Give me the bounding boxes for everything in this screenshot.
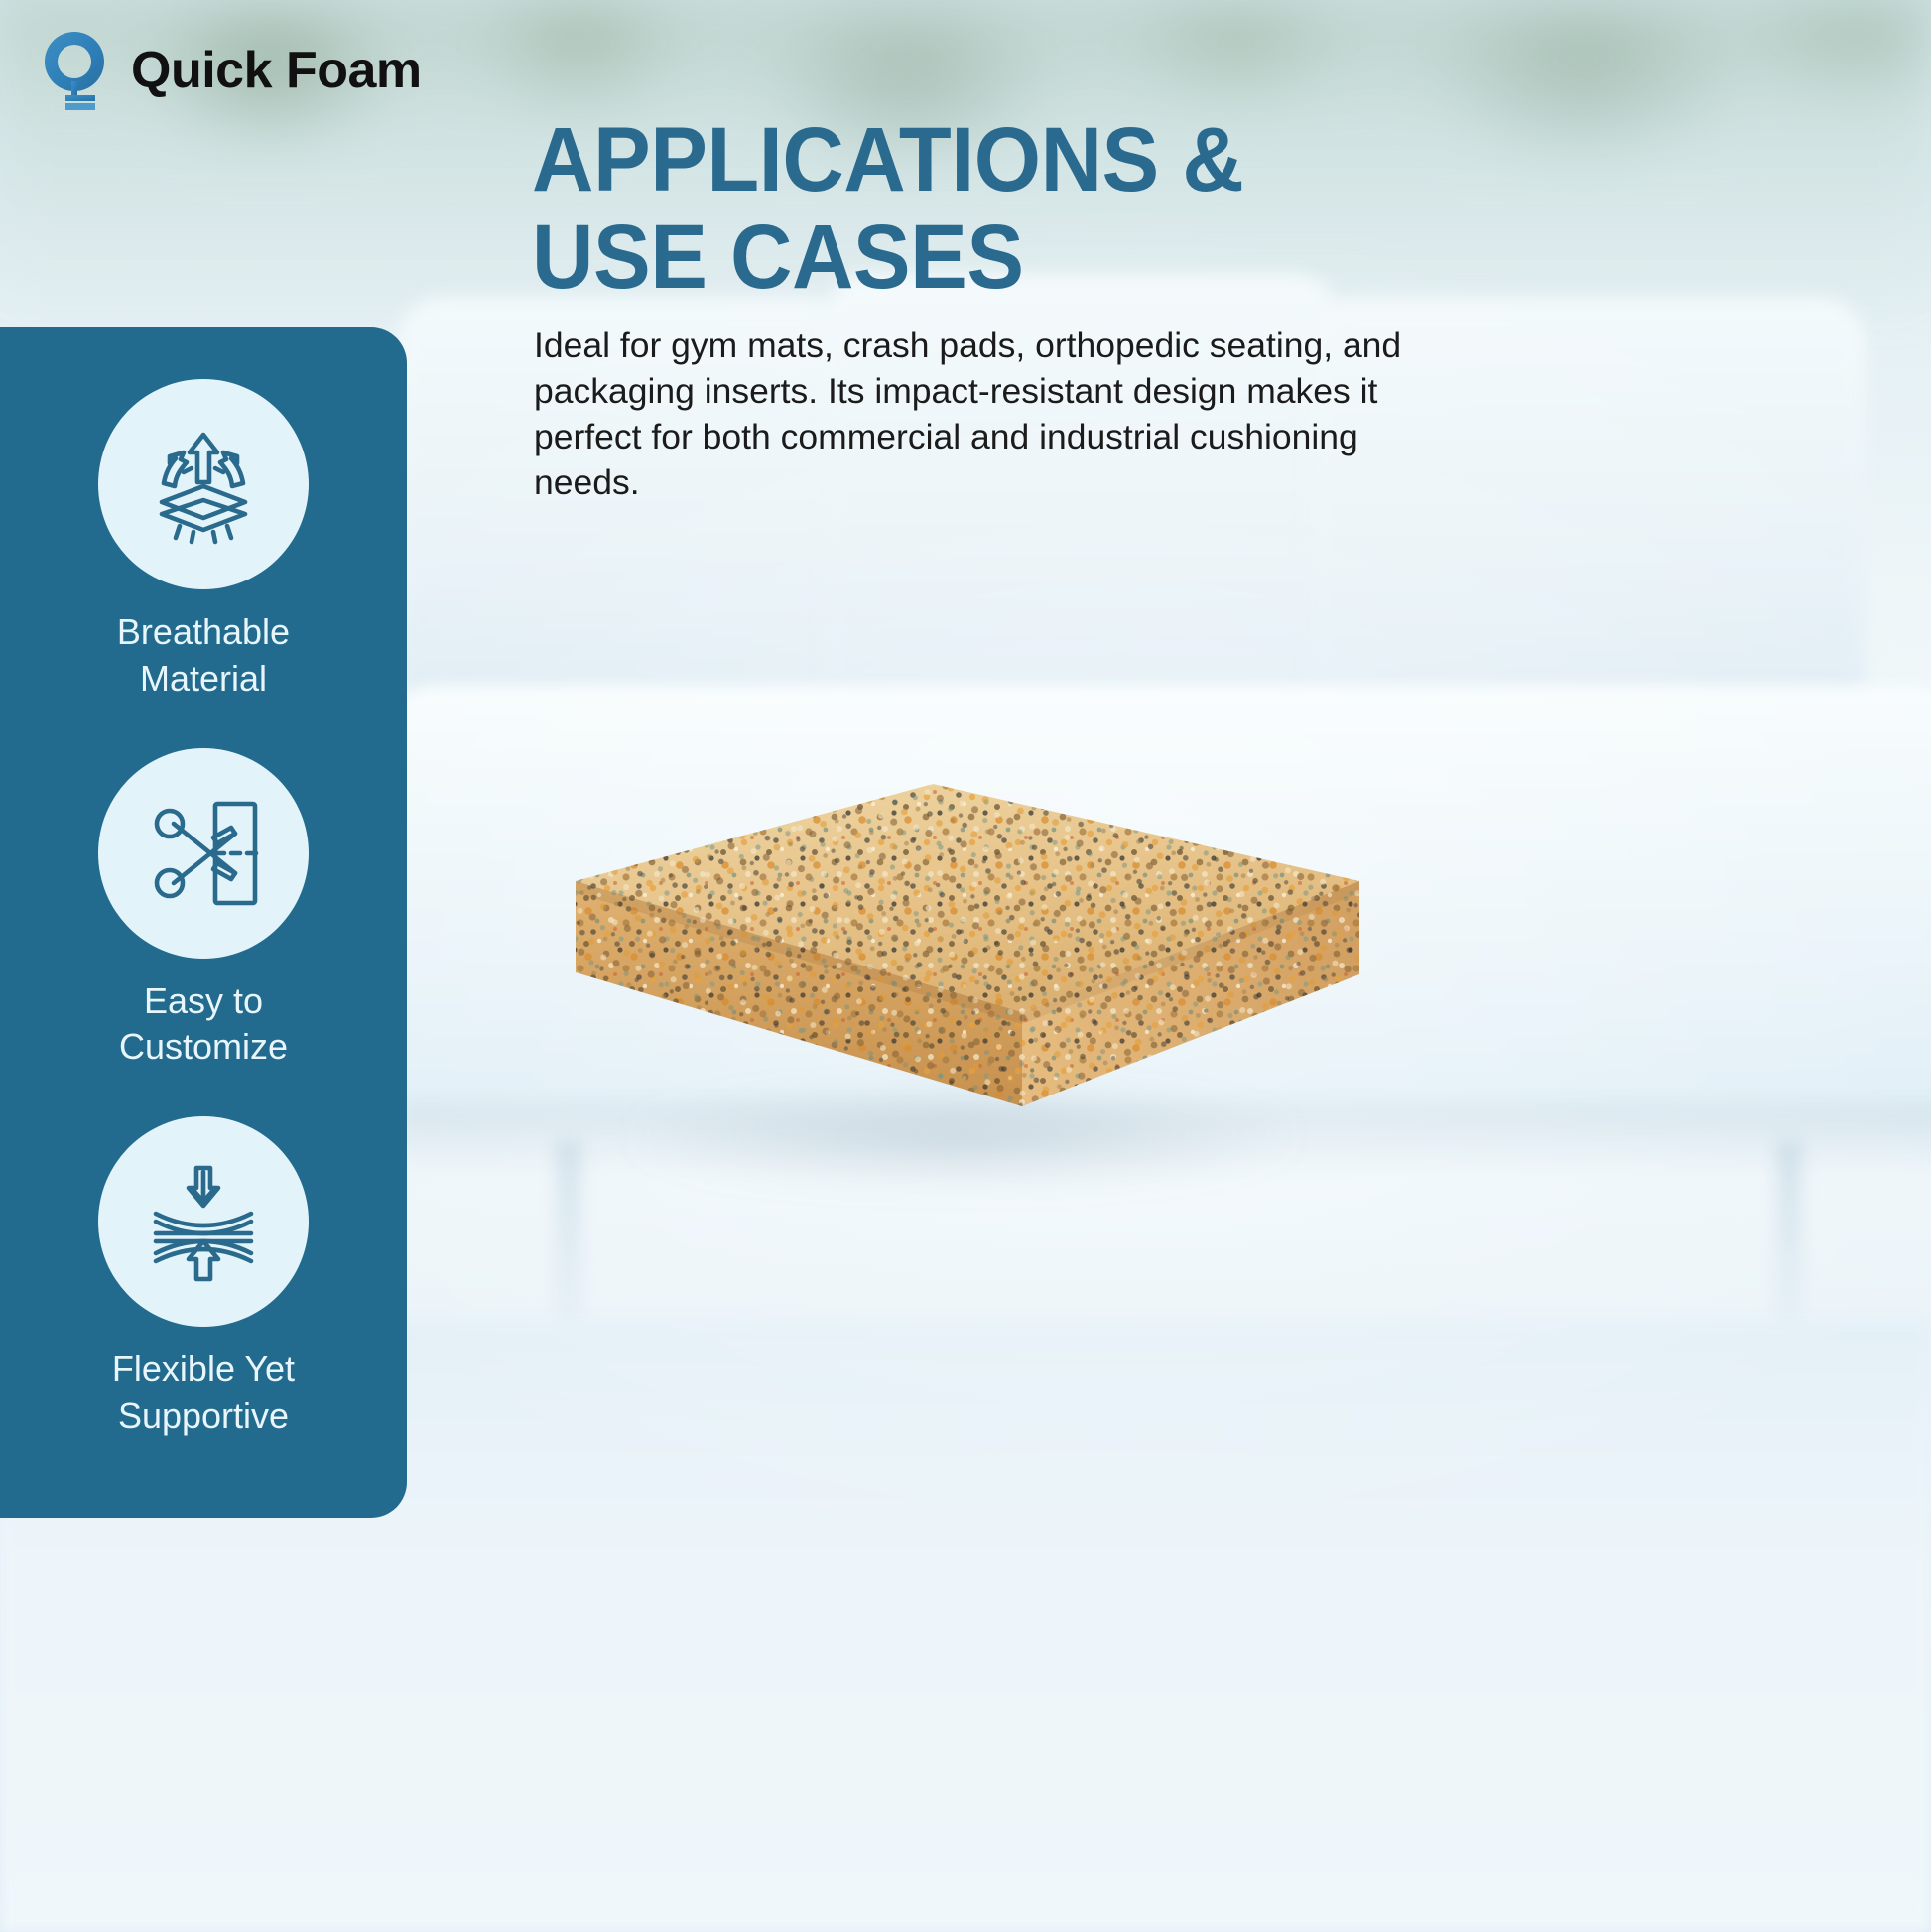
page-title: APPLICATIONS & USE CASES [532,111,1465,307]
brand-logo[interactable]: Quick Foam [42,30,422,111]
breathable-airflow-icon [98,379,309,589]
page-title-line-2: USE CASES [532,208,1465,306]
foam-block-illustration [556,764,1379,1161]
compression-rebound-icon [98,1116,309,1327]
feature-item-easy-to-customize[interactable]: Easy to Customize [0,748,407,1072]
scissors-cut-icon [98,748,309,959]
quick-foam-q-mark [42,30,113,111]
feature-label: Flexible Yet Supportive [112,1347,295,1440]
product-foam-block [556,764,1379,1161]
feature-label: Breathable Material [117,609,290,703]
page-title-line-1: APPLICATIONS & [532,111,1465,208]
features-sidebar: Breathable Material Easy to Customize [0,327,407,1518]
feature-item-breathable-material[interactable]: Breathable Material [0,379,407,703]
body-paragraph: Ideal for gym mats, crash pads, orthoped… [534,322,1432,506]
feature-item-flexible-yet-supportive[interactable]: Flexible Yet Supportive [0,1116,407,1440]
feature-label: Easy to Customize [119,978,288,1072]
brand-name: Quick Foam [131,41,422,100]
